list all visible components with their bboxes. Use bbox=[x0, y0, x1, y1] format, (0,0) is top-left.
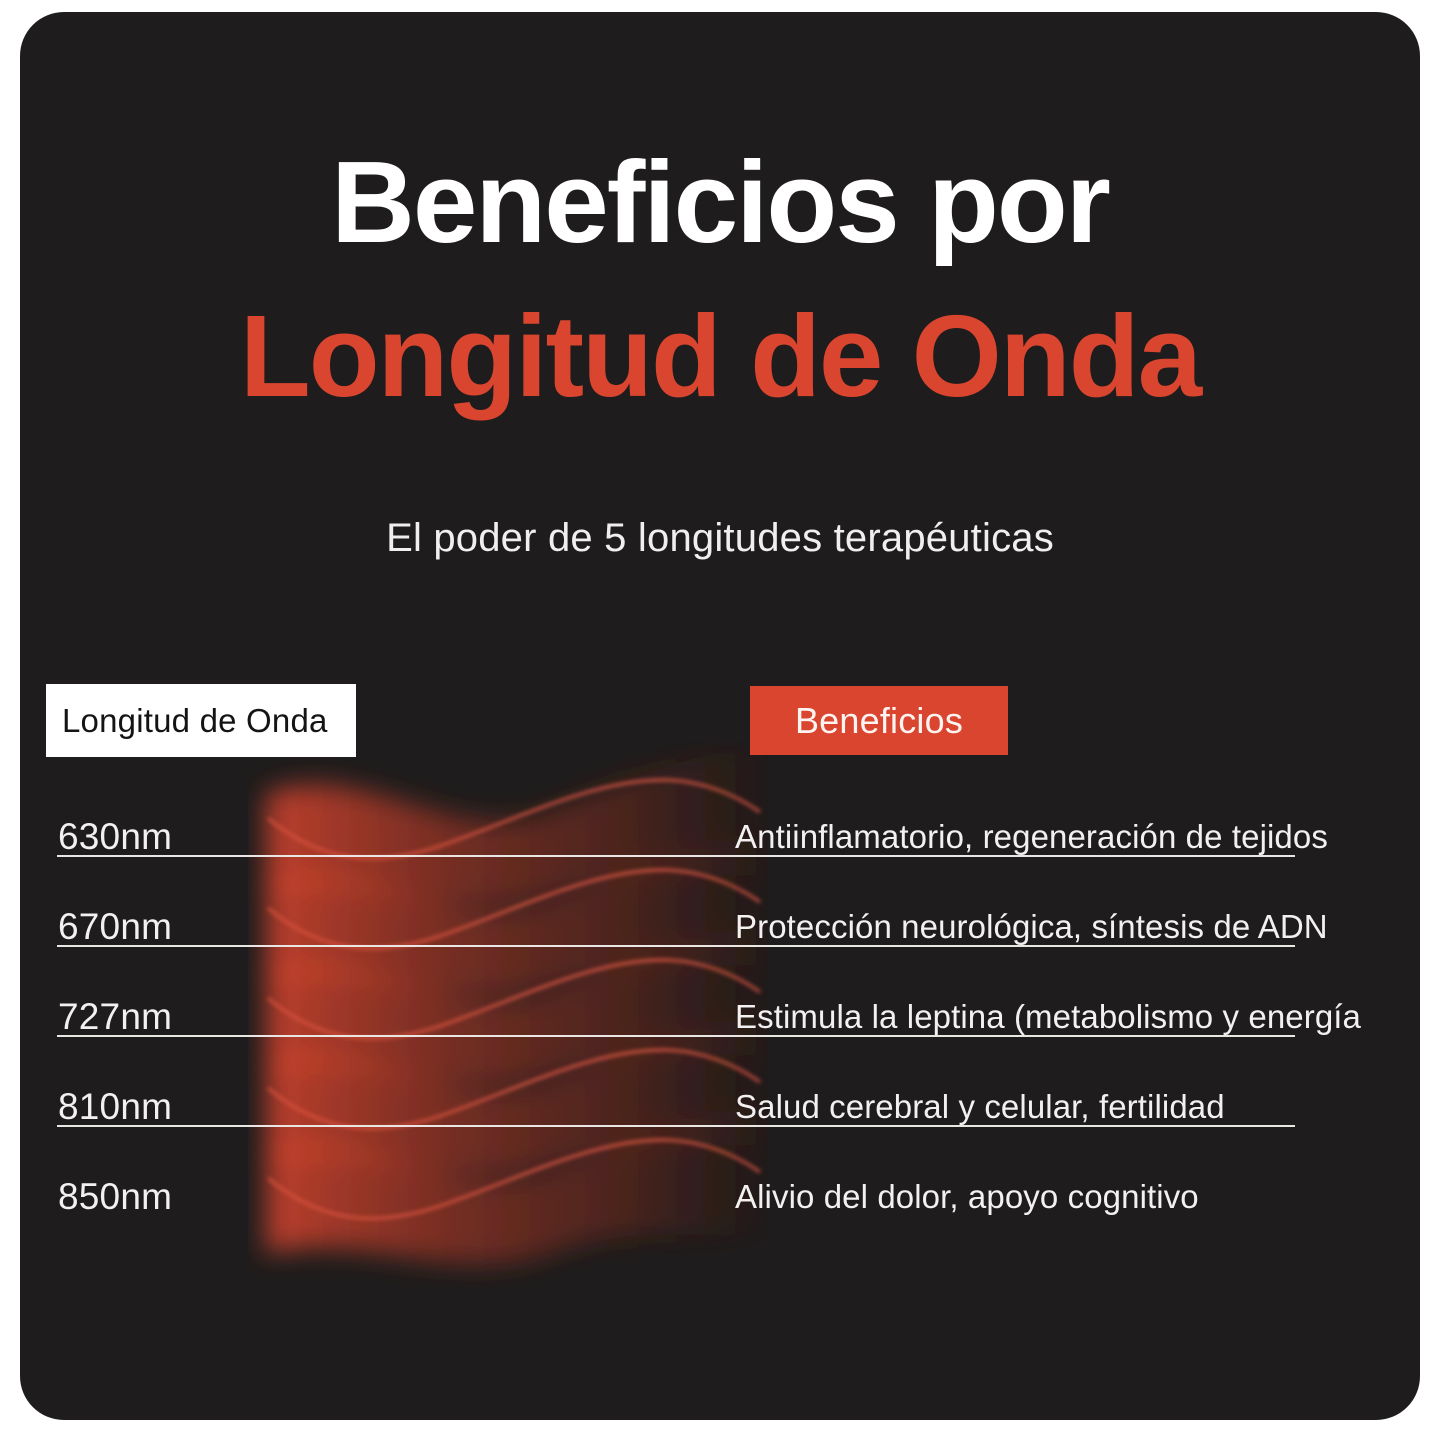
row-benefit-value: Alivio del dolor, apoyo cognitivo bbox=[735, 1154, 1199, 1240]
row-benefit-value: Protección neurológica, síntesis de ADN bbox=[735, 884, 1328, 970]
table-row: 727nm Estimula la leptina (metabolismo y… bbox=[20, 974, 1420, 1060]
row-divider bbox=[57, 1035, 1295, 1037]
wavelength-benefits-table: Longitud de Onda Beneficios 630nm Antiin… bbox=[20, 12, 1420, 1420]
table-header-wavelength: Longitud de Onda bbox=[46, 684, 356, 757]
table-header-benefits: Beneficios bbox=[750, 686, 1008, 755]
table-row: 810nm Salud cerebral y celular, fertilid… bbox=[20, 1064, 1420, 1150]
row-divider bbox=[57, 945, 1295, 947]
screenshot-root: Beneficios por Longitud de Onda El poder… bbox=[0, 0, 1440, 1440]
table-header-wavelength-label: Longitud de Onda bbox=[62, 702, 328, 740]
row-divider bbox=[57, 855, 1295, 857]
row-wavelength-value: 630nm bbox=[58, 794, 172, 880]
row-wavelength-value: 670nm bbox=[58, 884, 172, 970]
table-row: 850nm Alivio del dolor, apoyo cognitivo bbox=[20, 1154, 1420, 1240]
row-divider bbox=[57, 1125, 1295, 1127]
table-header-benefits-label: Beneficios bbox=[795, 700, 963, 742]
row-wavelength-value: 850nm bbox=[58, 1154, 172, 1240]
row-benefit-value: Antiinflamatorio, regeneración de tejido… bbox=[735, 794, 1328, 880]
infographic-card: Beneficios por Longitud de Onda El poder… bbox=[20, 12, 1420, 1420]
row-benefit-value: Estimula la leptina (metabolismo y energ… bbox=[735, 974, 1361, 1060]
row-wavelength-value: 810nm bbox=[58, 1064, 172, 1150]
row-wavelength-value: 727nm bbox=[58, 974, 172, 1060]
table-row: 670nm Protección neurológica, síntesis d… bbox=[20, 884, 1420, 970]
row-benefit-value: Salud cerebral y celular, fertilidad bbox=[735, 1064, 1225, 1150]
table-row: 630nm Antiinflamatorio, regeneración de … bbox=[20, 794, 1420, 880]
